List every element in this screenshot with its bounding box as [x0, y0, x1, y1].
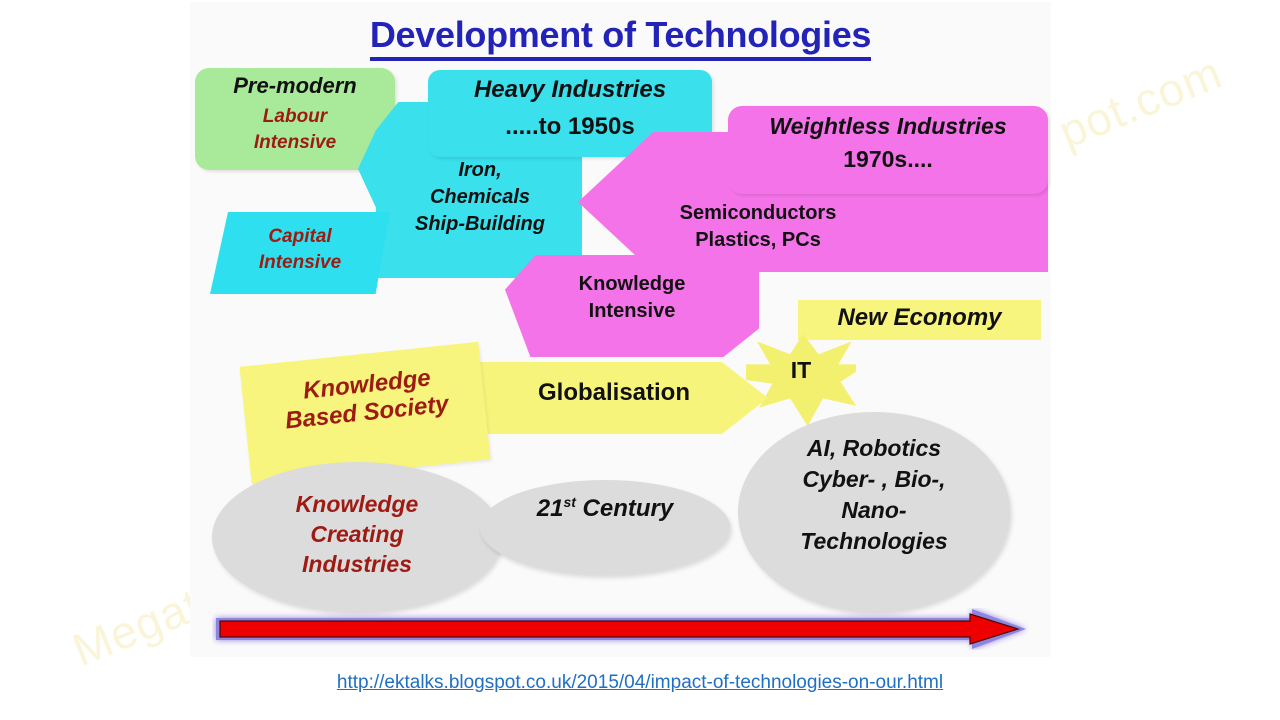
- node-it-label: IT: [746, 358, 856, 384]
- node-pre-modern-line3: Intensive: [195, 132, 395, 153]
- node-emerging-technologies-line1: AI, Robotics: [738, 436, 1010, 462]
- diagram-panel: Development of Technologies Pre-modern L…: [190, 2, 1051, 657]
- timeline-arrow: [212, 608, 1030, 650]
- node-weightless-industries-line3: Semiconductors: [638, 202, 878, 224]
- watermark-right-text: pot.com: [1051, 45, 1229, 159]
- source-url-link[interactable]: http://ektalks.blogspot.co.uk/2015/04/im…: [0, 672, 1280, 694]
- century-word: Century: [576, 495, 673, 522]
- node-capital-intensive-line1: Capital: [210, 226, 390, 247]
- node-knowledge-creating-industries-line2: Creating: [212, 522, 502, 548]
- century-ordinal-suffix: st: [563, 494, 575, 510]
- node-21st-century-label: 21st Century: [480, 495, 730, 523]
- node-knowledge-intensive-line1: Knowledge: [505, 273, 759, 295]
- node-heavy-industries-line4: Chemicals: [380, 186, 580, 208]
- page-title-text: Development of Technologies: [370, 14, 871, 61]
- node-emerging-technologies-line3: Nano-: [738, 498, 1010, 524]
- node-knowledge-intensive-line2: Intensive: [505, 300, 759, 322]
- watermark-left-text: Megat: [65, 577, 208, 677]
- node-knowledge-creating-industries-line1: Knowledge: [212, 492, 502, 518]
- node-emerging-technologies-line4: Technologies: [738, 529, 1010, 555]
- century-number: 21: [537, 495, 564, 522]
- node-heavy-industries-line3: Iron,: [380, 159, 580, 181]
- node-weightless-industries-line2: 1970s....: [728, 147, 1048, 173]
- page-title: Development of Technologies: [190, 14, 1051, 56]
- node-knowledge-creating-industries-line3: Industries: [212, 552, 502, 578]
- node-weightless-industries-line1: Weightless Industries: [728, 114, 1048, 140]
- node-pre-modern-line1: Pre-modern: [195, 74, 395, 99]
- node-weightless-industries-line4: Plastics, PCs: [638, 229, 878, 251]
- slide-canvas: Megat pot.com Development of Technologie…: [0, 0, 1280, 720]
- node-emerging-technologies-line2: Cyber- , Bio-,: [738, 467, 1010, 493]
- timeline-arrow-icon: [212, 608, 1030, 650]
- node-pre-modern-line2: Labour: [195, 106, 395, 127]
- node-globalisation-label: Globalisation: [480, 380, 748, 407]
- node-heavy-industries-line5: Ship-Building: [375, 213, 585, 235]
- node-new-economy-label: New Economy: [798, 305, 1041, 332]
- node-capital-intensive-line2: Intensive: [210, 252, 390, 273]
- node-heavy-industries-line1: Heavy Industries: [428, 77, 712, 104]
